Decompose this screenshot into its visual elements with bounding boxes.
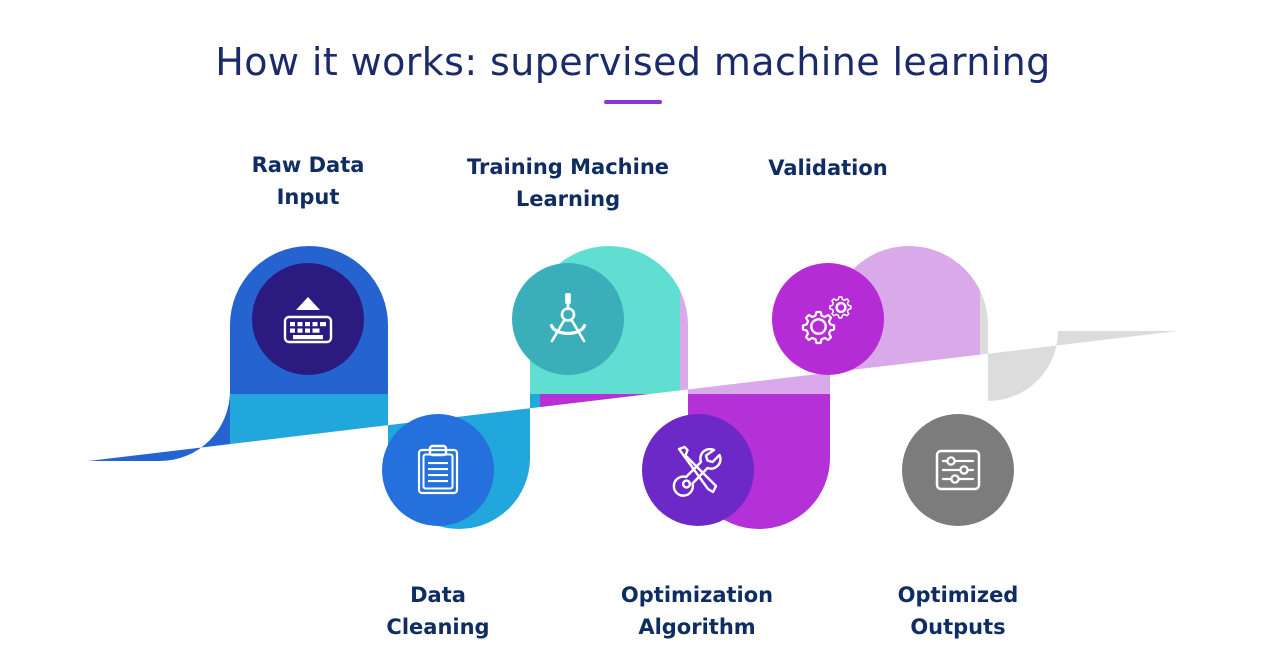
step-label-optimization-algorithm: Optimization Algorithm (582, 580, 812, 643)
step-node-optimized-outputs[interactable] (902, 414, 1014, 526)
step-node-optimization-algorithm[interactable] (642, 414, 754, 526)
ribbon-band-blue-left-tail (0, 394, 230, 662)
sliders-settings-icon (926, 438, 990, 502)
wrench-screwdriver-icon (666, 438, 730, 502)
step-label-optimized-outputs: Optimized Outputs (843, 580, 1073, 643)
step-label-training-machine-learning: Training Machine Learning (453, 152, 683, 215)
clipboard-icon (406, 438, 470, 502)
step-label-raw-data-input: Raw Data Input (193, 150, 423, 213)
keyboard-upload-icon (276, 287, 340, 351)
step-node-validation[interactable] (772, 263, 884, 375)
ribbon-color-bands (0, 0, 1266, 662)
step-node-raw-data-input[interactable] (252, 263, 364, 375)
compass-divider-icon (536, 287, 600, 351)
step-label-data-cleaning: Data Cleaning (323, 580, 553, 643)
ribbon-band-grey-top (980, 0, 1266, 394)
step-node-data-cleaning[interactable] (382, 414, 494, 526)
step-label-validation: Validation (713, 153, 943, 185)
gears-icon (796, 287, 860, 351)
step-node-training-machine-learning[interactable] (512, 263, 624, 375)
process-ribbon (0, 0, 1266, 662)
